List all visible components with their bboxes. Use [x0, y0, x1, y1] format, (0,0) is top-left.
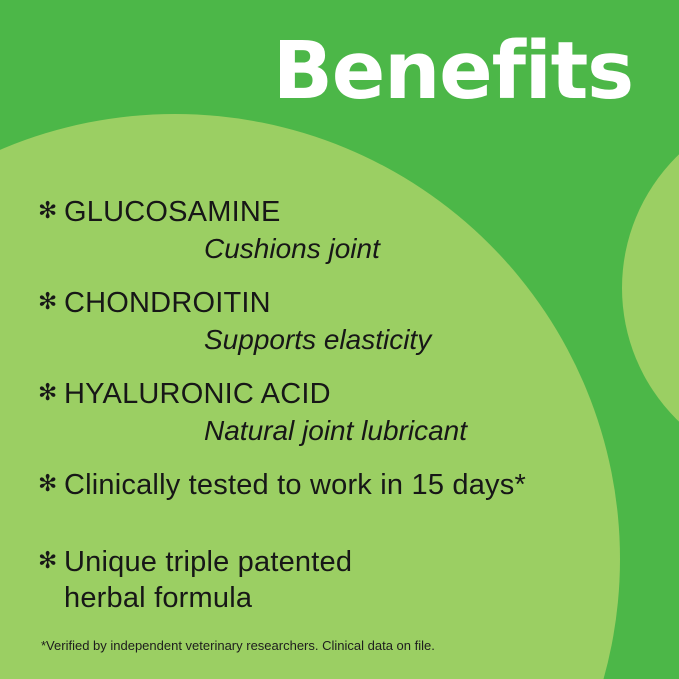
flower-bullet-icon: ✻: [38, 287, 64, 317]
list-item: ✻ HYALURONIC ACID Natural joint lubrican…: [38, 378, 638, 447]
flower-bullet-icon: ✻: [38, 378, 64, 408]
list-item: ✻ Unique triple patented herbal formula: [38, 546, 638, 618]
flower-bullet-icon: ✻: [38, 546, 64, 576]
flower-bullet-icon: ✻: [38, 469, 64, 499]
benefit-subtext: Cushions joint: [204, 232, 638, 265]
benefit-label: Unique triple patented: [64, 546, 352, 578]
benefit-main-line: ✻ HYALURONIC ACID: [38, 378, 638, 411]
list-item: ✻ CHONDROITIN Supports elasticity: [38, 287, 638, 356]
list-item: ✻ GLUCOSAMINE Cushions joint: [38, 196, 638, 265]
benefit-label: CHONDROITIN: [64, 287, 271, 320]
benefit-label-line2: herbal formula: [64, 579, 352, 618]
benefit-subtext: Supports elasticity: [204, 323, 638, 356]
page-title: Benefits: [273, 32, 633, 111]
benefit-main-line: ✻ GLUCOSAMINE: [38, 196, 638, 229]
benefit-label: Clinically tested to work in 15 days*: [64, 469, 526, 502]
benefit-label: GLUCOSAMINE: [64, 196, 281, 229]
benefit-main-line: ✻ Unique triple patented herbal formula: [38, 546, 638, 618]
benefit-main-line: ✻ Clinically tested to work in 15 days*: [38, 469, 638, 502]
benefit-label-wrap: Unique triple patented herbal formula: [64, 546, 352, 618]
benefit-subtext: Natural joint lubricant: [204, 414, 638, 447]
benefit-label: HYALURONIC ACID: [64, 378, 331, 411]
flower-bullet-icon: ✻: [38, 196, 64, 226]
footnote-disclaimer: *Verified by independent veterinary rese…: [41, 638, 435, 654]
benefit-main-line: ✻ CHONDROITIN: [38, 287, 638, 320]
list-item: ✻ Clinically tested to work in 15 days*: [38, 469, 638, 502]
benefits-list: ✻ GLUCOSAMINE Cushions joint ✻ CHONDROIT…: [38, 196, 638, 618]
benefits-infographic: Benefits ✻ GLUCOSAMINE Cushions joint ✻ …: [0, 0, 679, 679]
